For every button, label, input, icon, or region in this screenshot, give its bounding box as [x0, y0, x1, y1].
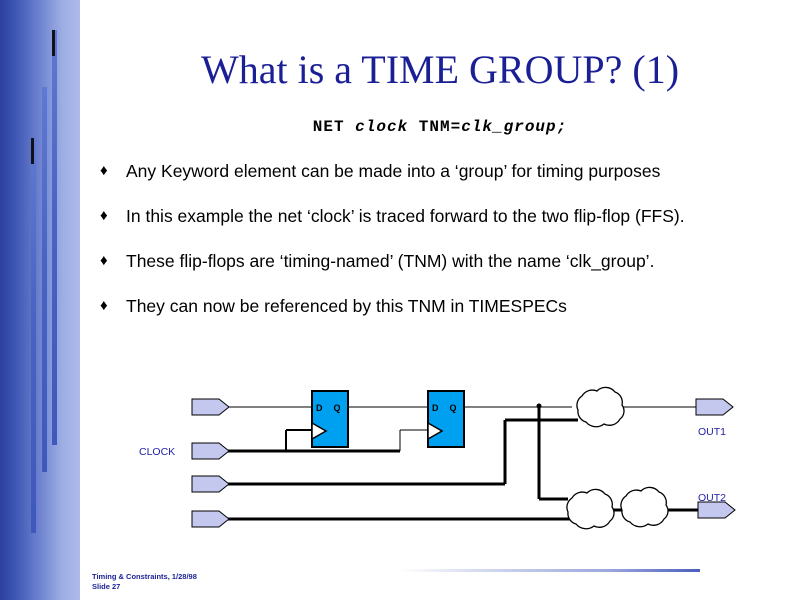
wire-junction-dot — [537, 404, 542, 409]
band-tick-1 — [52, 30, 55, 56]
footer-line-1: Timing & Constraints, 1/28/98 — [92, 572, 197, 582]
bullet-text-2: In this example the net ‘clock’ is trace… — [126, 203, 786, 229]
flipflop-1-body — [312, 391, 348, 447]
page-title: What is a TIME GROUP? (1) — [80, 46, 800, 93]
bullet-text-4: They can now be referenced by this TNM i… — [126, 293, 786, 319]
output-pin-out2 — [698, 502, 735, 518]
diamond-bullet-icon: ♦ — [96, 158, 126, 184]
code-seg-group: clk_group; — [461, 118, 567, 136]
diamond-bullet-icon: ♦ — [96, 248, 126, 274]
input-pin-3 — [192, 476, 229, 492]
input-pin-4 — [192, 511, 229, 527]
flipflop-2-d-label: D — [432, 403, 439, 413]
slide-footer: Timing & Constraints, 1/28/98 Slide 27 — [92, 572, 197, 592]
input-pin-1 — [192, 399, 229, 415]
flipflop-1-q-label: Q — [333, 403, 340, 413]
bullet-item-4: ♦ They can now be referenced by this TNM… — [96, 293, 786, 319]
bullet-item-3: ♦ These flip-flops are ‘timing-named’ (T… — [96, 248, 786, 274]
code-seg-clock: clock — [355, 118, 408, 136]
code-seg-net: NET — [313, 118, 355, 136]
band-stripe-3 — [31, 138, 36, 533]
code-snippet: NET clock TNM=clk_group; — [80, 118, 800, 136]
bullet-item-1: ♦ Any Keyword element can be made into a… — [96, 158, 786, 184]
left-decorative-band — [0, 0, 80, 600]
bullet-item-2: ♦ In this example the net ‘clock’ is tra… — [96, 203, 786, 229]
band-tick-2 — [31, 138, 34, 164]
flipflop-2-body — [428, 391, 464, 447]
logic-cloud-3 — [621, 487, 668, 526]
diamond-bullet-icon: ♦ — [96, 203, 126, 229]
bullet-text-3: These flip-flops are ‘timing-named’ (TNM… — [126, 248, 786, 274]
code-seg-tnm: TNM= — [408, 118, 461, 136]
logic-cloud-2 — [567, 489, 614, 528]
footer-line-2: Slide 27 — [92, 582, 197, 592]
input-pin-clock — [192, 443, 229, 459]
slide-canvas: What is a TIME GROUP? (1) NET clock TNM=… — [0, 0, 800, 600]
clock-input-label: CLOCK — [139, 446, 175, 458]
band-stripe-1 — [52, 30, 57, 445]
flipflop-1-d-label: D — [316, 403, 323, 413]
flipflop-2-q-label: Q — [449, 403, 456, 413]
bullet-list: ♦ Any Keyword element can be made into a… — [96, 158, 786, 338]
out2-label: OUT2 — [698, 492, 726, 504]
footer-divider-rule — [400, 569, 700, 572]
output-pin-out1 — [696, 399, 733, 415]
flipflop-1-clock-triangle — [312, 423, 326, 439]
band-stripe-2 — [42, 87, 47, 472]
logic-cloud-1 — [577, 387, 624, 426]
flipflop-2-clock-triangle — [428, 423, 442, 439]
out1-label: OUT1 — [698, 426, 726, 438]
bullet-text-1: Any Keyword element can be made into a ‘… — [126, 158, 786, 184]
diamond-bullet-icon: ♦ — [96, 293, 126, 319]
